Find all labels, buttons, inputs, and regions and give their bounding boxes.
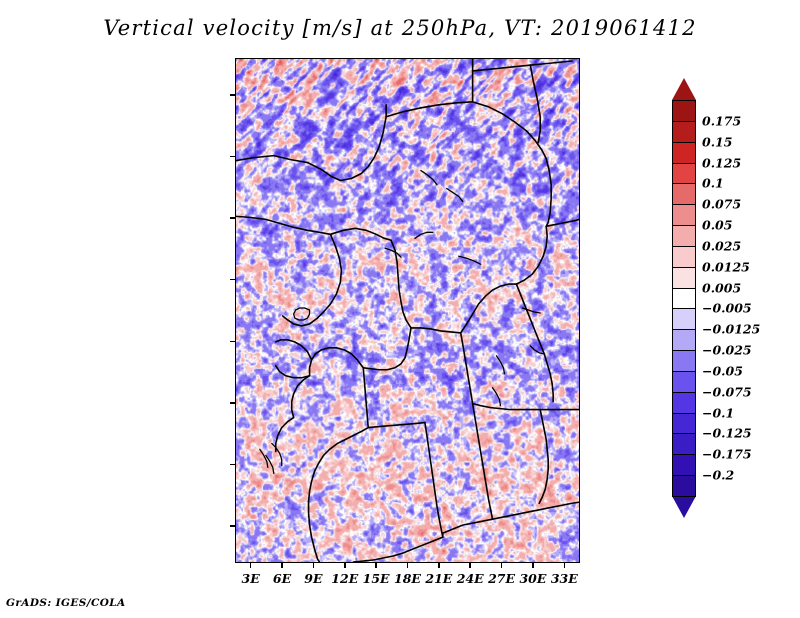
colorbar-band	[672, 267, 696, 289]
map-plot-area	[235, 58, 580, 563]
x-axis-tick-label: 6E	[273, 571, 291, 586]
y-axis-tick-mark	[230, 402, 236, 404]
x-axis-tick-label: 27E	[488, 571, 515, 586]
colorbar-band	[672, 454, 696, 476]
colorbar-tick-label: 0.025	[702, 238, 741, 253]
x-axis-tick-label: 9E	[304, 571, 322, 586]
x-axis-tick-mark	[281, 562, 283, 568]
colorbar-band	[672, 100, 696, 122]
colorbar-tick-label: −0.075	[702, 384, 752, 399]
x-axis-tick-label: 33E	[551, 571, 578, 586]
y-axis-tick-mark	[230, 156, 236, 158]
colorbar-band	[672, 350, 696, 372]
colorbar-tick-label: 0.1	[702, 176, 724, 191]
colorbar-band	[672, 121, 696, 143]
colorbar-band	[672, 392, 696, 414]
x-axis-tick-label: 18E	[394, 571, 421, 586]
country-borders-overlay	[236, 59, 579, 562]
x-axis-tick-mark	[344, 562, 346, 568]
x-axis-tick-mark	[532, 562, 534, 568]
colorbar-tick-label: −0.005	[702, 301, 752, 316]
colorbar-tick-label: −0.1	[702, 405, 734, 420]
colorbar-band	[672, 475, 696, 497]
colorbar-band	[672, 329, 696, 351]
colorbar-tick-label: −0.05	[702, 363, 743, 378]
colorbar-tick-label: −0.2	[702, 468, 734, 483]
colorbar-tick-label: −0.025	[702, 343, 752, 358]
x-axis-tick-mark	[313, 562, 315, 568]
y-axis-tick-mark	[230, 94, 236, 96]
colorbar-band	[672, 183, 696, 205]
colorbar-band	[672, 308, 696, 330]
colorbar-band	[672, 163, 696, 185]
y-axis-tick-mark	[230, 217, 236, 219]
colorbar-over-arrow	[672, 78, 696, 100]
x-axis-tick-mark	[438, 562, 440, 568]
colorbar: 0.1750.150.1250.10.0750.050.0250.01250.0…	[672, 78, 696, 518]
grads-credit: GrADS: IGES/COLA	[6, 597, 126, 609]
colorbar-under-arrow	[672, 496, 696, 518]
page-title: Vertical velocity [m/s] at 250hPa, VT: 2…	[0, 16, 800, 40]
colorbar-band	[672, 246, 696, 268]
x-axis-tick-mark	[564, 562, 566, 568]
y-axis-tick-mark	[230, 341, 236, 343]
colorbar-tick-label: 0.175	[702, 113, 741, 128]
y-axis-tick-mark	[230, 525, 236, 527]
colorbar-tick-label: 0.15	[702, 134, 732, 149]
colorbar-band	[672, 433, 696, 455]
x-axis-tick-label: 15E	[363, 571, 390, 586]
colorbar-tick-label: 0.05	[702, 218, 732, 233]
colorbar-tick-label: −0.0125	[702, 322, 760, 337]
colorbar-band	[672, 225, 696, 247]
x-axis-tick-label: 3E	[242, 571, 260, 586]
x-axis-tick-mark	[469, 562, 471, 568]
x-axis-tick-mark	[375, 562, 377, 568]
colorbar-band	[672, 204, 696, 226]
x-axis-tick-mark	[407, 562, 409, 568]
x-axis-tick-mark	[250, 562, 252, 568]
x-axis-tick-label: 30E	[519, 571, 546, 586]
colorbar-band	[672, 142, 696, 164]
colorbar-tick-label: 0.0125	[702, 259, 750, 274]
y-axis-tick-mark	[230, 279, 236, 281]
x-axis-tick-label: 12E	[331, 571, 358, 586]
colorbar-tick-label: −0.175	[702, 447, 752, 462]
y-axis-tick-mark	[230, 464, 236, 466]
colorbar-band	[672, 371, 696, 393]
x-axis-tick-mark	[501, 562, 503, 568]
x-axis-tick-label: 24E	[457, 571, 484, 586]
x-axis-tick-label: 21E	[425, 571, 452, 586]
colorbar-tick-label: −0.125	[702, 426, 752, 441]
colorbar-band	[672, 288, 696, 310]
colorbar-band	[672, 413, 696, 435]
colorbar-tick-label: 0.075	[702, 197, 741, 212]
colorbar-tick-label: 0.005	[702, 280, 741, 295]
colorbar-tick-label: 0.125	[702, 155, 741, 170]
